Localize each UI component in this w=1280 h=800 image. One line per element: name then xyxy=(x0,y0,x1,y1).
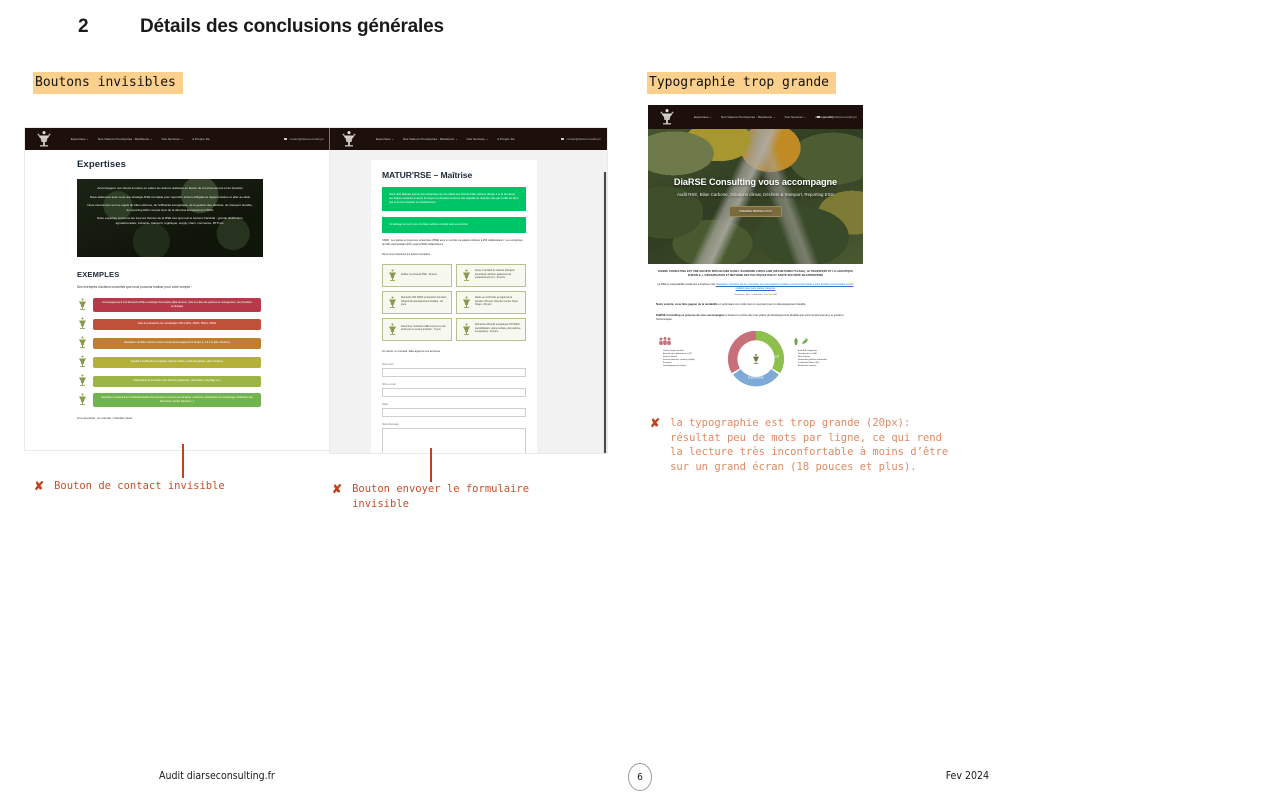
diarse-crest-logo-icon xyxy=(77,393,89,407)
text-input[interactable] xyxy=(382,368,526,377)
cross-icon: ✘ xyxy=(34,479,44,493)
annotation-text: Bouton envoyer le formulaire invisible xyxy=(352,482,529,511)
diarse-crest-logo-icon xyxy=(461,269,472,282)
home-content: DIARSE CONSULTING EST UNE SOCIÉTÉ SPÉCIA… xyxy=(648,264,863,389)
nav-contact-email[interactable]: contact@diarseconsulting.fr xyxy=(284,137,324,141)
expertises-heading: Expertises xyxy=(77,159,300,170)
diarse-crest-logo-icon xyxy=(77,298,89,312)
form-field-label: Objet xyxy=(382,403,526,406)
nav-link-expertises[interactable]: Expertises ⌄ xyxy=(376,137,394,141)
diagram-legend-right: Audit RSE / DiagnosticDécarbonation et C… xyxy=(793,337,853,369)
diarse-crest-logo-icon xyxy=(77,317,89,331)
site-nav-links[interactable]: Expertises ⌄ Nos Valeurs D'entreprise : … xyxy=(71,137,210,141)
text-input[interactable] xyxy=(382,408,526,417)
expertise-bar-label: Solutions d'efficacité énergétique (décr… xyxy=(93,357,261,368)
quote-lead-text: La RSE ou responsabilité sociale des ent… xyxy=(658,283,716,286)
intro-paragraph: Nous intervenons sur les sujets du bilan… xyxy=(86,203,254,212)
intro-paragraph: Accompagner nos clients à mettre en vale… xyxy=(86,186,254,191)
page-number-badge: 6 xyxy=(628,763,652,791)
home-quote: La RSE ou responsabilité sociale des ent… xyxy=(656,283,855,291)
expertise-bar-label: Aide à la démarche de normalisation ISO … xyxy=(93,319,261,330)
form-field-label: Votre e-mail xyxy=(382,383,526,386)
donut-label-economie: Economie xyxy=(748,375,763,379)
form-field: Votre e-mail xyxy=(382,383,526,397)
tile-text: Mettre en conformité au regard de la dir… xyxy=(475,297,521,307)
maturse-offer-tile: Scope 3 du bilan du carbone (transport a… xyxy=(456,264,526,287)
form-field: Votre Message xyxy=(382,423,526,453)
donut-label-social: Social xyxy=(740,354,750,358)
home-paragraph-2: DiaRSE Consulting se propose de vous acc… xyxy=(656,314,855,323)
cross-icon: ✘ xyxy=(650,416,660,430)
maturse-cta-text: Un devis, un conseil, faite appel à nos … xyxy=(382,349,526,353)
maturse-paragraph: CSRD : Les petites et moyennes entrepris… xyxy=(382,239,526,247)
slide-page: 2 Détails des conclusions générales Bout… xyxy=(0,0,1280,800)
diarse-crest-logo-icon xyxy=(387,323,398,336)
home-paragraph-1-bold: Notre volonté, vous faire gagner de la r… xyxy=(656,303,718,306)
form-field: Objet xyxy=(382,403,526,417)
diarse-crest-logo-icon xyxy=(461,296,472,309)
section-label-boutons-invisibles: Boutons invisibles xyxy=(33,72,183,94)
page-scrollbar[interactable] xyxy=(603,172,607,453)
diarse-crest-logo-icon xyxy=(338,130,360,148)
expertises-intro-panel: Accompagner nos clients à mettre en vale… xyxy=(77,179,263,257)
expertise-bar-label: Expertise et conseil pour la Décarbonisa… xyxy=(93,393,261,406)
screenshot-maturse-page: Expertises ⌄ Nos Valeurs D'entreprise : … xyxy=(330,128,607,453)
people-group-icon xyxy=(658,337,720,348)
expertise-bar-row: Accompagnement à la démarche RSE et stra… xyxy=(77,298,300,312)
slide-number: 2 xyxy=(78,16,140,38)
expertise-bar-list: Accompagnement à la démarche RSE et stra… xyxy=(77,298,300,407)
tile-text: Auditer vos process RSE - 15 jours xyxy=(401,274,437,277)
slide-title-text: Détails des conclusions générales xyxy=(140,16,444,38)
recycle-leaf-icon xyxy=(793,337,853,348)
exemples-heading: EXEMPLES xyxy=(77,270,300,279)
nav-link-apropos[interactable]: A Propos De xyxy=(497,137,514,141)
intro-paragraph: Nous élaborons avec vous une stratégie R… xyxy=(86,195,254,200)
nav-link-valeurs[interactable]: Nos Valeurs D'entreprise : Résilience ⌄ xyxy=(403,137,458,141)
nav-link-valeurs[interactable]: Nos Valeurs D'entreprise : Résilience ⌄ xyxy=(721,115,776,119)
site-navbar: Expertises ⌄ Nos Valeurs D'entreprise : … xyxy=(648,105,863,129)
maturse-content: MATUR'RSE – Maîtrise Notre offre Maîtris… xyxy=(330,150,607,453)
expertise-bar-row: Expertise et conseil pour la Décarbonisa… xyxy=(77,393,300,407)
cross-icon: ✘ xyxy=(332,482,342,496)
text-input[interactable] xyxy=(382,388,526,397)
pillars-donut-chart: Environnement Social Economie xyxy=(728,331,784,387)
tile-text: Scope 3 du bilan du carbone (transport a… xyxy=(475,270,521,280)
diarse-crest-logo-icon xyxy=(656,108,678,126)
message-textarea[interactable] xyxy=(382,428,526,453)
nav-link-services[interactable]: Nos Services ⌄ xyxy=(162,137,184,141)
contact-form[interactable]: Votre nomVotre e-mailObjetVotre Message xyxy=(382,363,526,453)
nav-link-expertises[interactable]: Expertises ⌄ xyxy=(71,137,89,141)
expertise-bar-row: Réalisation du Bilan carbone Amont et Av… xyxy=(77,336,300,350)
diarse-crest-logo-icon xyxy=(387,296,398,309)
nav-contact-email[interactable]: contact@diarseconsulting.fr xyxy=(561,137,601,141)
form-field-label: Votre nom xyxy=(382,363,526,366)
maturse-offer-tile: Auditer vos process RSE - 15 jours xyxy=(382,264,452,287)
legend-left-items: Gestion l'impact sociétalBien-être des c… xyxy=(658,350,720,369)
site-navbar: Expertises ⌄ Nos Valeurs D'entreprise : … xyxy=(330,128,607,150)
quote-definition-link[interactable]: l'intégration volontaire par les entrepr… xyxy=(716,283,854,290)
nav-link-expertises[interactable]: Expertises ⌄ xyxy=(694,115,712,119)
legend-right-items: Audit RSE / DiagnosticDécarbonation et C… xyxy=(793,350,853,369)
tile-text: Déterminer l'exclusion CEE concerne le s… xyxy=(401,326,447,333)
hero-cta-button[interactable]: PRENDRE RENDEZ-VOUS xyxy=(729,206,781,217)
diarse-crest-logo-icon xyxy=(77,355,89,369)
diarse-crest-logo-icon xyxy=(33,130,55,148)
tile-text: Démarche ISO 26000 et obtention d'un lab… xyxy=(401,297,447,307)
expertise-bar-row: Optimisation de la Gestion des déchets (… xyxy=(77,374,300,388)
mail-icon xyxy=(817,116,820,118)
expertise-bar-label: Optimisation de la Gestion des déchets (… xyxy=(93,376,261,387)
leader-line-contact-button xyxy=(182,444,184,478)
expertise-bar-label: Accompagnement à la démarche RSE et stra… xyxy=(93,298,261,311)
section-label-typographie: Typographie trop grande xyxy=(647,72,836,94)
footer-right-date: Fev 2024 xyxy=(946,770,989,782)
diagram-legend-left: Gestion l'impact sociétalBien-être des c… xyxy=(658,337,720,369)
home-paragraph-2-bold: DiaRSE Consulting se propose de vous acc… xyxy=(656,314,725,317)
exemples-subtitle: Des exemples d'actions concrètes que nou… xyxy=(77,285,257,290)
diarse-crest-logo-icon xyxy=(387,269,398,282)
donut-label-environnement: Environnement xyxy=(755,354,778,358)
page-title: 2 Détails des conclusions générales xyxy=(78,16,444,38)
nav-contact-email[interactable]: contact@diarseconsulting.fr xyxy=(817,115,857,119)
diarse-crest-logo-icon xyxy=(77,374,89,388)
three-pillars-diagram: Gestion l'impact sociétalBien-être des c… xyxy=(656,329,855,389)
maturse-green-box-2: Un pilotage au jour le jour du bilan car… xyxy=(382,217,526,233)
maturse-offer-tile: Déterminer l'exclusion CEE concerne le s… xyxy=(382,318,452,341)
diarse-crest-logo-icon xyxy=(461,323,472,336)
home-quote-source: Commission - Bloc - Collaboration - Livr… xyxy=(656,294,855,296)
home-lead-text: DIARSE CONSULTING EST UNE SOCIÉTÉ SPÉCIA… xyxy=(656,270,855,278)
maturse-offers-intro: Nous vous proposons les actions suivante… xyxy=(382,253,526,257)
site-nav-links[interactable]: Expertises ⌄ Nos Valeurs D'entreprise : … xyxy=(694,115,833,119)
expertise-bar-row: Aide à la démarche de normalisation ISO … xyxy=(77,317,300,331)
annotation-bouton-contact: ✘ Bouton de contact invisible xyxy=(34,479,334,494)
maturse-heading: MATUR'RSE – Maîtrise xyxy=(382,170,526,180)
annotation-typographie: ✘ la typographie est trop grande (20px):… xyxy=(650,416,970,474)
screenshot-home-page: Expertises ⌄ Nos Valeurs D'entreprise : … xyxy=(648,105,863,401)
maturse-offer-tiles: Auditer vos process RSE - 15 jours Scope… xyxy=(382,264,526,341)
expertises-footer-text: Une question, un conseil, n'hésitez plus… xyxy=(77,416,300,420)
hero-subtitle: Audit RSE, Bilan Carbone, Solutions clim… xyxy=(677,192,834,197)
annotation-text: la typographie est trop grande (20px): r… xyxy=(670,416,948,474)
tile-text: Démarche efficacité énergétique ISO 5000… xyxy=(475,324,521,334)
leader-line-submit-button xyxy=(430,448,432,482)
maturse-offer-tile: Démarche ISO 26000 et obtention d'un lab… xyxy=(382,291,452,314)
nav-link-services[interactable]: Nos Services ⌄ xyxy=(467,137,489,141)
annotation-text: Bouton de contact invisible xyxy=(54,479,225,494)
mail-icon xyxy=(284,138,287,140)
nav-link-valeurs[interactable]: Nos Valeurs D'entreprise : Résilience ⌄ xyxy=(98,137,153,141)
maturse-green-box-1: Notre offre Maîtrise permet aux entrepri… xyxy=(382,187,526,211)
maturse-offer-tile: Démarche efficacité énergétique ISO 5000… xyxy=(456,318,526,341)
form-field-label: Votre Message xyxy=(382,423,526,426)
form-field: Votre nom xyxy=(382,363,526,377)
expertise-bar-row: Solutions d'efficacité énergétique (décr… xyxy=(77,355,300,369)
expertises-content: Expertises Accompagner nos clients à met… xyxy=(25,159,330,450)
footer-left-text: Audit diarseconsulting.fr xyxy=(159,770,275,782)
annotation-bouton-envoyer: ✘ Bouton envoyer le formulaire invisible xyxy=(332,482,602,511)
home-paragraph-1: Notre volonté, vous faire gagner de la r… xyxy=(656,303,855,307)
maturse-offer-tile: Mettre en conformité au regard de la dir… xyxy=(456,291,526,314)
mail-icon xyxy=(561,138,564,140)
hero-title: DiaRSE Consulting vous accompagne xyxy=(674,177,837,187)
site-navbar: Expertises ⌄ Nos Valeurs D'entreprise : … xyxy=(25,128,330,150)
legend-item: Amélioration continue xyxy=(798,365,853,368)
hero-banner: DiaRSE Consulting vous accompagne Audit … xyxy=(648,129,863,264)
legend-item: Développement du territoire xyxy=(663,365,720,368)
nav-link-apropos[interactable]: A Propos De xyxy=(192,137,209,141)
screenshot-expertises-page: Expertises ⌄ Nos Valeurs D'entreprise : … xyxy=(25,128,330,450)
intro-paragraph: Notre expertise concerne les tous les th… xyxy=(86,216,254,225)
site-nav-links[interactable]: Expertises ⌄ Nos Valeurs D'entreprise : … xyxy=(376,137,515,141)
expertise-bar-label: Réalisation du Bilan carbone Amont et Av… xyxy=(93,338,261,349)
home-paragraph-1-rest: en optimisant vos coûts tout en oeuvrant… xyxy=(718,303,806,306)
nav-link-services[interactable]: Nos Services ⌄ xyxy=(785,115,807,119)
diarse-crest-logo-icon xyxy=(77,336,89,350)
